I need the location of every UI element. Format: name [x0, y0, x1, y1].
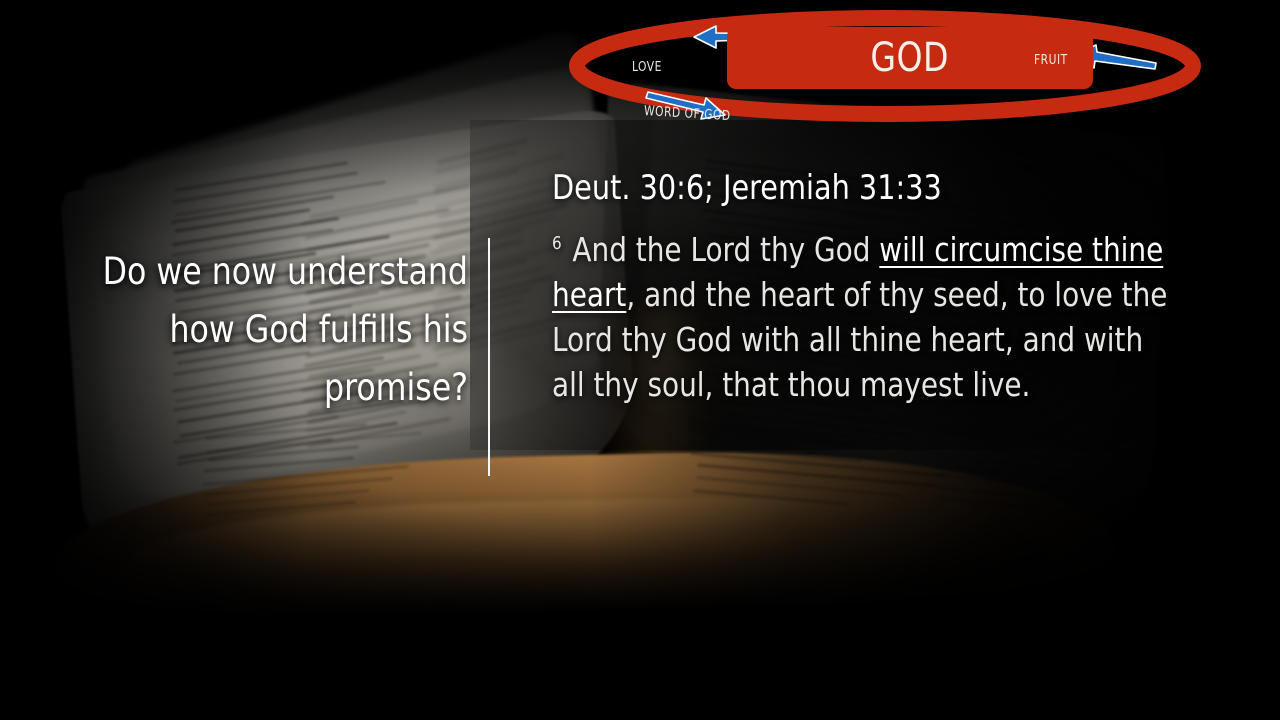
label-love: LOVE	[632, 59, 662, 75]
scripture-block: Deut. 30:6; Jeremiah 31:33 6 And the Lor…	[552, 168, 1224, 407]
verse-number: 6	[552, 233, 562, 254]
scripture-reference: Deut. 30:6; Jeremiah 31:33	[552, 168, 1184, 208]
verse-text-before: And the Lord thy God	[564, 230, 880, 269]
verse-text-after: , and the heart of thy seed, to love the…	[552, 275, 1167, 404]
label-fruit: FRUIT	[1034, 52, 1068, 68]
god-cycle-diagram: GOD LOVE FRUIT WORD OF GOD	[560, 8, 1210, 138]
presentation-slide: GOD LOVE FRUIT WORD OF GOD Do we now und…	[0, 0, 1280, 720]
scripture-verse: 6 And the Lord thy God will circumcise t…	[552, 227, 1184, 407]
vertical-divider	[488, 238, 490, 476]
question-text: Do we now understand how God fulfills hi…	[80, 243, 468, 417]
god-label: GOD	[871, 35, 950, 81]
